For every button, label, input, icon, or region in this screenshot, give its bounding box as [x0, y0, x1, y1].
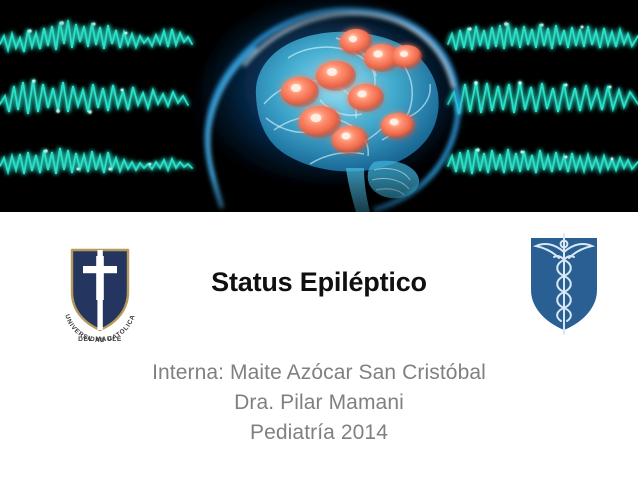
university-sub-text: DEL MAULE	[78, 336, 122, 343]
presentation-slide: UNIVERSIDAD CATOLICA DEL MAULE Status Ep…	[0, 0, 638, 479]
subtitle-line-presenter: Interna: Maite Azócar San Cristóbal	[0, 358, 638, 388]
banner-image	[0, 0, 638, 212]
slide-content: UNIVERSIDAD CATOLICA DEL MAULE Status Ep…	[0, 212, 638, 479]
brain-illustration	[160, 0, 490, 212]
faculty-logo	[523, 232, 605, 336]
subtitle-line-supervisor: Dra. Pilar Mamani	[0, 388, 638, 418]
subtitle-line-department: Pediatría 2014	[0, 418, 638, 448]
subtitle-block: Interna: Maite Azócar San Cristóbal Dra.…	[0, 358, 638, 448]
